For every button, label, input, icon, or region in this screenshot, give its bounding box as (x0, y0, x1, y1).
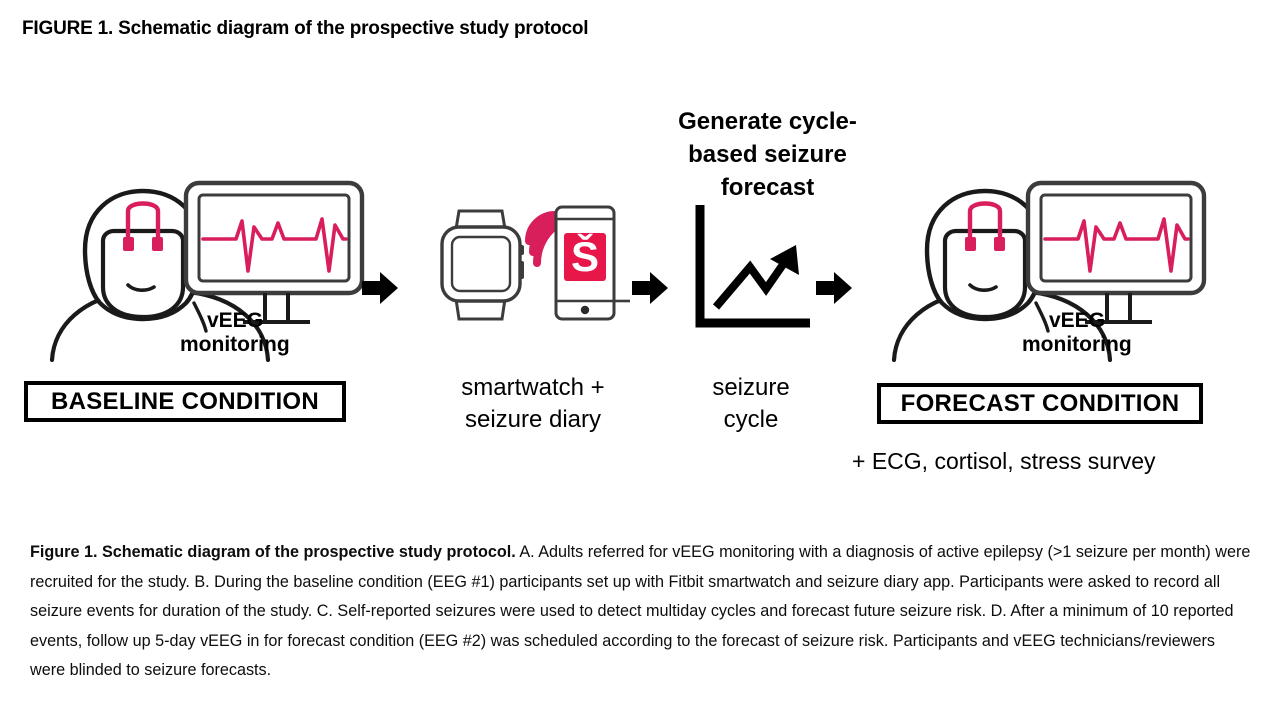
patient-eeg-scene-forecast (882, 175, 1212, 355)
forecast-title-line1: Generate cycle- (655, 105, 880, 138)
right-arrow-icon (628, 266, 672, 310)
smartphone-icon: Š (556, 207, 630, 319)
veeg-annotation-forecast-line2: monitoring (1022, 333, 1132, 357)
figure-heading: FIGURE 1. Schematic diagram of the prosp… (22, 18, 588, 40)
figure-caption-body: A. Adults referred for vEEG monitoring w… (30, 543, 1250, 679)
arrow-baseline-to-devices (358, 266, 402, 310)
smartwatch-icon (442, 211, 524, 319)
figure-caption: Figure 1. Schematic diagram of the prosp… (30, 538, 1252, 686)
devices-caption: smartwatch + seizure diary (433, 372, 633, 437)
panel-seizure-cycle (692, 205, 810, 333)
devices-caption-line1: smartwatch + (433, 372, 633, 404)
veeg-annotation-baseline-line2: monitoring (180, 333, 290, 357)
seizure-cycle-caption-line1: seizure (690, 372, 812, 404)
app-icon-glyph: Š (571, 232, 599, 280)
right-arrow-icon (358, 266, 402, 310)
patient-eeg-scene-baseline (40, 175, 370, 355)
forecast-extras-label: + ECG, cortisol, stress survey (852, 448, 1156, 475)
rising-trend-chart-icon (692, 205, 810, 333)
devices-caption-line2: seizure diary (433, 404, 633, 436)
veeg-annotation-forecast: vEEG monitoring (1049, 309, 1132, 358)
devices-group-icon: Š (430, 205, 630, 335)
figure-caption-lead: Figure 1. Schematic diagram of the prosp… (30, 543, 516, 561)
arrow-devices-to-chart (628, 266, 672, 310)
baseline-condition-label: BASELINE CONDITION (51, 388, 319, 415)
baseline-condition-box: BASELINE CONDITION (24, 381, 346, 422)
forecast-title-line2: based seizure (655, 138, 880, 171)
panel-smartwatch-diary: Š (430, 205, 630, 335)
seizure-cycle-caption-line2: cycle (690, 404, 812, 436)
forecast-generation-title: Generate cycle- based seizure forecast (655, 105, 880, 204)
veeg-annotation-forecast-line1: vEEG (1049, 309, 1132, 333)
forecast-condition-label: FORECAST CONDITION (901, 390, 1180, 417)
right-arrow-icon (812, 266, 856, 310)
arrow-chart-to-forecast (812, 266, 856, 310)
seizure-cycle-caption: seizure cycle (690, 372, 812, 437)
veeg-annotation-baseline-line1: vEEG (207, 309, 290, 333)
forecast-title-line3: forecast (655, 171, 880, 204)
panel-baseline-condition: vEEG monitoring (40, 175, 370, 355)
panel-forecast-condition: vEEG monitoring (882, 175, 1212, 355)
forecast-condition-box: FORECAST CONDITION (877, 383, 1203, 424)
veeg-annotation-baseline: vEEG monitoring (207, 309, 290, 358)
schematic-diagram: vEEG monitoring BASELINE CONDITION (0, 80, 1280, 510)
